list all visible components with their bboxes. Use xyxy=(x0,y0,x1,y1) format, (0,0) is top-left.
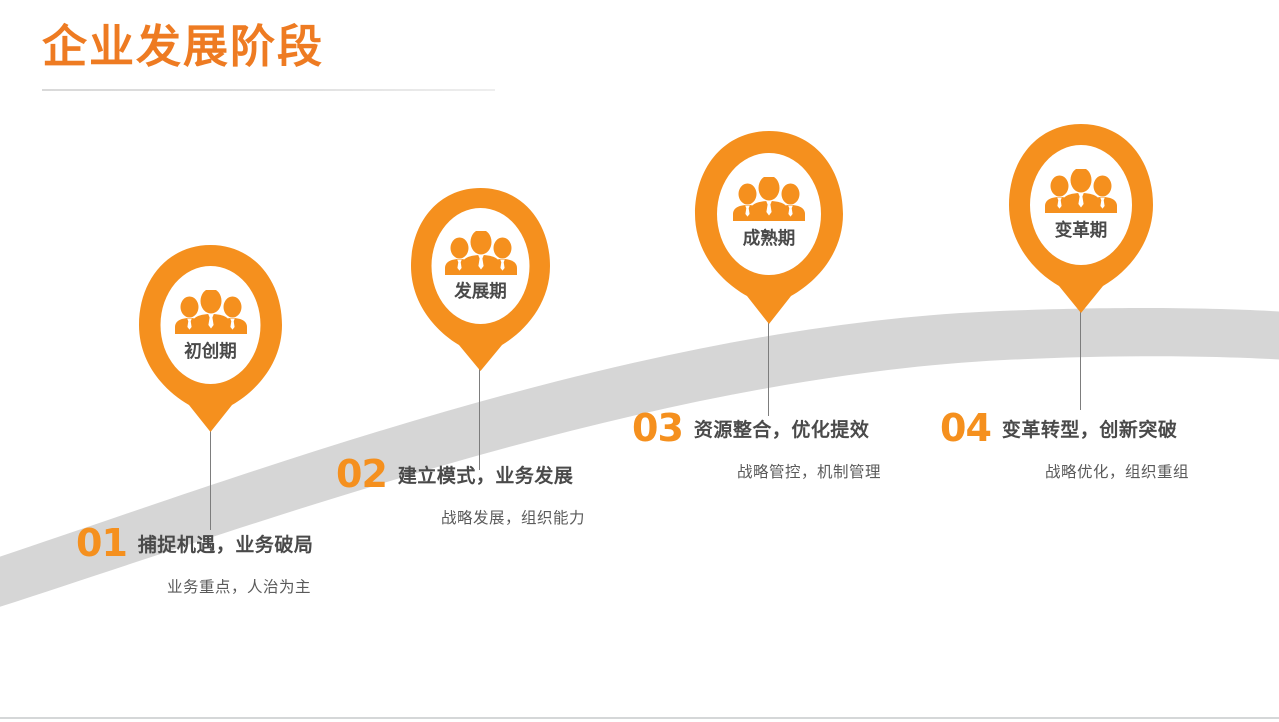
caption-4: 04 变革转型，创新突破 战略优化，组织重组 xyxy=(940,409,1232,482)
people-group-icon xyxy=(733,177,805,221)
caption-subtitle-2: 战略发展，组织能力 xyxy=(398,506,628,528)
pin-icon-wrap-3 xyxy=(687,177,851,221)
caption-subtitle-3: 战略管控，机制管理 xyxy=(694,460,924,482)
caption-heading-4: 变革转型，创新突破 xyxy=(1002,415,1178,442)
pin-label-3: 成熟期 xyxy=(687,225,851,250)
slide-canvas: 企业发展阶段 初创期 01 捕捉机遇，业务破局 xyxy=(0,0,1279,722)
pin-label-2: 发展期 xyxy=(403,278,558,303)
pin-marker-1[interactable]: 初创期 xyxy=(131,242,290,436)
pin-label-4: 变革期 xyxy=(1001,217,1161,242)
caption-row-4: 04 变革转型，创新突破 xyxy=(940,409,1232,447)
caption-heading-2: 建立模式，业务发展 xyxy=(398,461,574,488)
title-block: 企业发展阶段 xyxy=(42,18,602,94)
pin-marker-2[interactable]: 发展期 xyxy=(403,185,558,375)
caption-number-3: 03 xyxy=(632,409,683,447)
pin-marker-4[interactable]: 变革期 xyxy=(1001,121,1161,317)
caption-row-2: 02 建立模式，业务发展 xyxy=(336,455,628,493)
pin-icon-wrap-2 xyxy=(403,231,558,275)
title-divider xyxy=(42,89,495,91)
people-group-icon xyxy=(175,290,247,334)
caption-row-1: 01 捕捉机遇，业务破局 xyxy=(76,524,354,562)
pin-icon-wrap-1 xyxy=(131,290,290,334)
caption-2: 02 建立模式，业务发展 战略发展，组织能力 xyxy=(336,455,628,528)
caption-subtitle-4: 战略优化，组织重组 xyxy=(1002,460,1232,482)
bottom-divider xyxy=(0,717,1279,719)
caption-number-4: 04 xyxy=(940,409,991,447)
caption-heading-1: 捕捉机遇，业务破局 xyxy=(138,530,314,557)
pin-icon-wrap-4 xyxy=(1001,169,1161,213)
page-title: 企业发展阶段 xyxy=(42,18,602,76)
caption-heading-3: 资源整合，优化提效 xyxy=(694,415,870,442)
stem-3 xyxy=(768,313,769,416)
caption-row-3: 03 资源整合，优化提效 xyxy=(632,409,924,447)
caption-number-1: 01 xyxy=(76,524,127,562)
people-group-icon xyxy=(1045,169,1117,213)
pin-label-1: 初创期 xyxy=(131,338,290,363)
caption-1: 01 捕捉机遇，业务破局 业务重点，人治为主 xyxy=(76,524,354,597)
caption-3: 03 资源整合，优化提效 战略管控，机制管理 xyxy=(632,409,924,482)
caption-number-2: 02 xyxy=(336,455,387,493)
pin-marker-3[interactable]: 成熟期 xyxy=(687,128,851,328)
caption-subtitle-1: 业务重点，人治为主 xyxy=(124,575,354,597)
people-group-icon xyxy=(445,231,517,275)
stem-4 xyxy=(1080,305,1081,410)
